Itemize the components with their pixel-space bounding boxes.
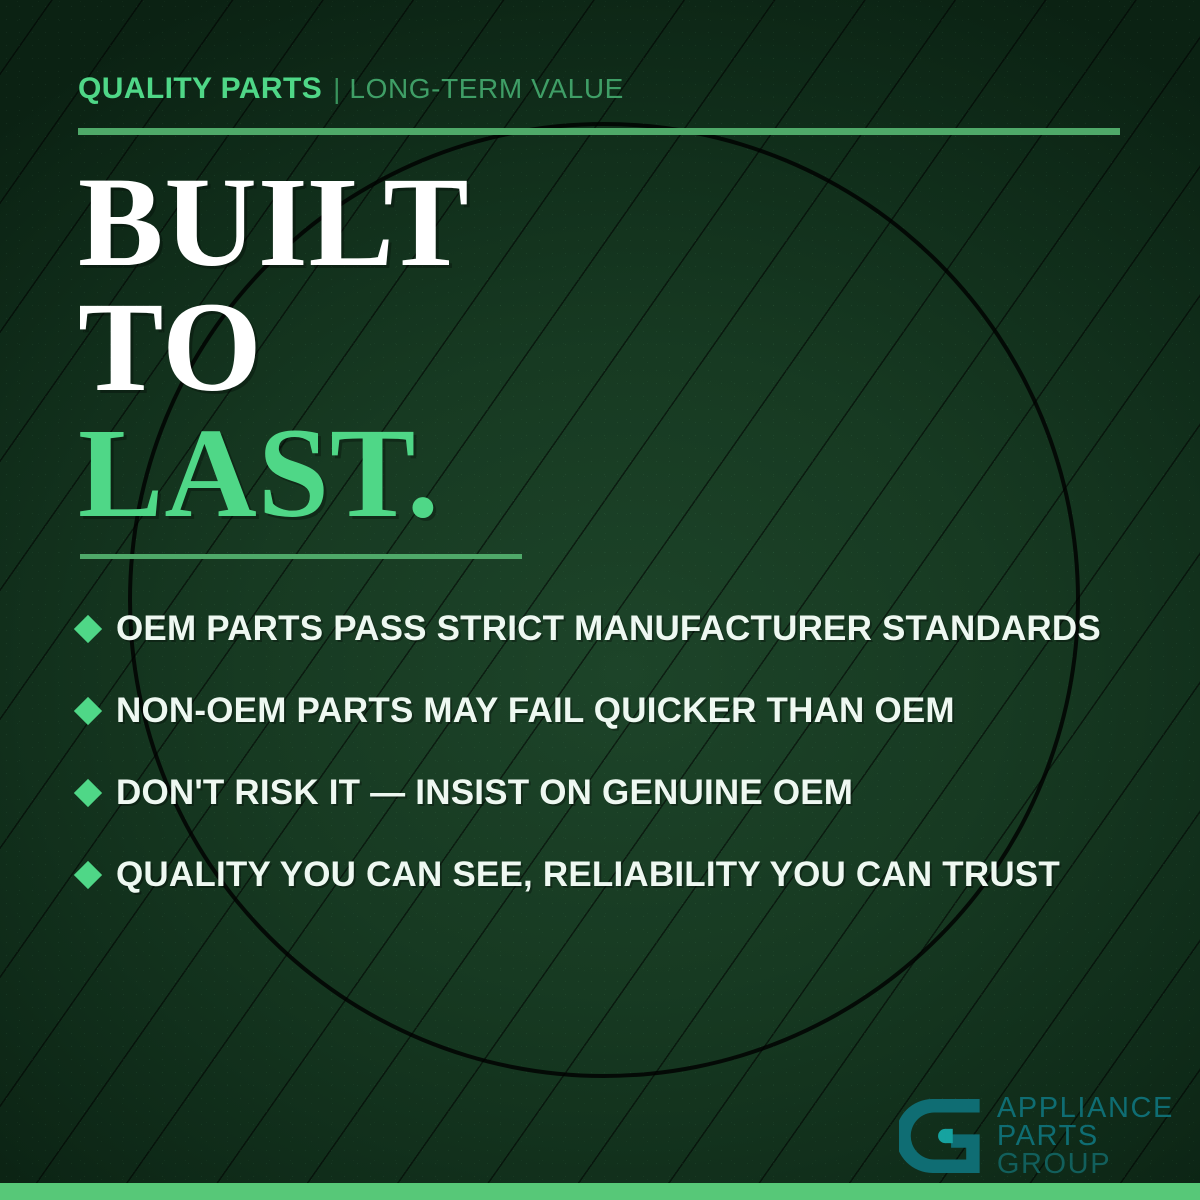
list-item-label: QUALITY YOU CAN SEE, RELIABILITY YOU CAN… xyxy=(116,855,1060,895)
brand-logo: APPLIANCE PARTS GROUP xyxy=(899,1094,1174,1178)
benefit-list: OEM PARTS PASS STRICT MANUFACTURER STAND… xyxy=(78,588,1148,916)
eyebrow-row: QUALITY PARTS | LONG-TERM VALUE xyxy=(78,72,624,106)
header-divider-rule xyxy=(78,128,1120,135)
brand-word-line-1: APPLIANCE xyxy=(997,1094,1174,1122)
list-item-label: OEM PARTS PASS STRICT MANUFACTURER STAND… xyxy=(116,609,1101,649)
headline-line-2: TO xyxy=(78,285,470,410)
headline-line-3: LAST. xyxy=(78,411,470,536)
brand-word-line-2: PARTS xyxy=(997,1122,1174,1150)
list-item-label: DON'T RISK IT — INSIST ON GENUINE OEM xyxy=(116,773,853,813)
headline-divider-rule xyxy=(80,554,522,559)
poster-canvas: QUALITY PARTS | LONG-TERM VALUE BUILT TO… xyxy=(0,0,1200,1200)
eyebrow-separator: | xyxy=(333,73,340,105)
list-item: OEM PARTS PASS STRICT MANUFACTURER STAND… xyxy=(78,588,1148,670)
list-item-label: NON-OEM PARTS MAY FAIL QUICKER THAN OEM xyxy=(116,691,955,731)
diamond-bullet-icon xyxy=(74,697,102,725)
appliance-parts-group-g-icon xyxy=(899,1094,983,1178)
list-item: DON'T RISK IT — INSIST ON GENUINE OEM xyxy=(78,752,1148,834)
bottom-accent-bar xyxy=(0,1183,1200,1200)
brand-word-line-3: GROUP xyxy=(997,1150,1174,1178)
diamond-bullet-icon xyxy=(74,615,102,643)
list-item: QUALITY YOU CAN SEE, RELIABILITY YOU CAN… xyxy=(78,834,1148,916)
eyebrow-subtitle: LONG-TERM VALUE xyxy=(349,73,624,105)
headline-line-1: BUILT xyxy=(78,160,470,285)
diamond-bullet-icon xyxy=(74,861,102,889)
page-title: BUILT TO LAST. xyxy=(78,160,470,536)
diamond-bullet-icon xyxy=(74,779,102,807)
eyebrow-kicker: QUALITY PARTS xyxy=(78,72,322,106)
brand-wordmark: APPLIANCE PARTS GROUP xyxy=(997,1094,1174,1178)
list-item: NON-OEM PARTS MAY FAIL QUICKER THAN OEM xyxy=(78,670,1148,752)
